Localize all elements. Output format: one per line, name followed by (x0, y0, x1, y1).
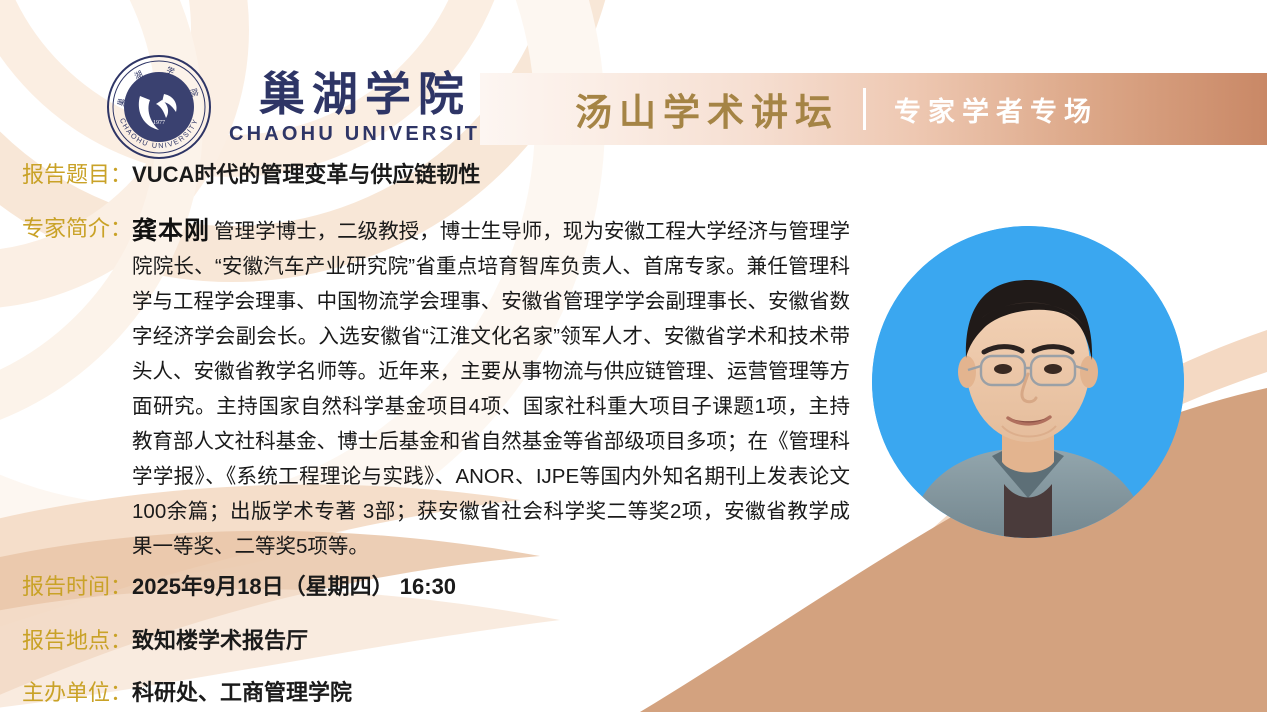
expert-name: 龚本刚 (132, 214, 210, 249)
report-time-label: 报告时间： (22, 572, 132, 602)
report-host-value: 科研处、工商管理学院 (132, 678, 352, 708)
report-place-row: 报告地点： 致知楼学术报告厅 (22, 626, 308, 656)
poster-canvas: 1977 CHAOHU UNIVERSITY 巢 湖 学 院 巢湖学院 CHAO… (0, 0, 1267, 712)
banner-divider (863, 88, 866, 130)
forum-subtitle: 专家学者专场 (894, 90, 1098, 129)
report-place-value: 致知楼学术报告厅 (132, 626, 308, 656)
expert-bio-block: 龚本刚 管理学博士，二级教授，博士生导师，现为安徽工程大学经济与管理学院院长、“… (132, 214, 850, 564)
report-host-row: 主办单位： 科研处、工商管理学院 (22, 678, 352, 708)
forum-title: 汤山学术讲坛 (575, 82, 839, 136)
university-name-cn: 巢湖学院 (252, 68, 471, 120)
report-place-label: 报告地点： (22, 626, 132, 656)
report-time-value: 2025年9月18日（星期四） 16:30 (132, 572, 456, 602)
report-title-row: 报告题目： VUCA时代的管理变革与供应链韧性 (22, 160, 480, 190)
report-title-value: VUCA时代的管理变革与供应链韧性 (132, 160, 480, 190)
forum-banner: 汤山学术讲坛 专家学者专场 (480, 73, 1267, 145)
university-name-block: 巢湖学院 CHAOHU UNIVERSITY (226, 68, 497, 146)
expert-bio-text: 管理学博士，二级教授，博士生导师，现为安徽工程大学经济与管理学院院长、“安徽汽车… (132, 214, 850, 564)
expert-bio-row: 专家简介： 龚本刚 管理学博士，二级教授，博士生导师，现为安徽工程大学经济与管理… (22, 214, 882, 564)
report-time-row: 报告时间： 2025年9月18日（星期四） 16:30 (22, 572, 456, 602)
report-host-label: 主办单位： (22, 678, 132, 708)
university-identity: 1977 CHAOHU UNIVERSITY 巢 湖 学 院 巢湖学院 CHAO… (106, 54, 497, 160)
university-name-en: CHAOHU UNIVERSITY (226, 122, 497, 146)
poster-header: 1977 CHAOHU UNIVERSITY 巢 湖 学 院 巢湖学院 CHAO… (0, 0, 1267, 150)
expert-bio-label: 专家简介： (22, 214, 132, 244)
university-seal-icon: 1977 CHAOHU UNIVERSITY 巢 湖 学 院 (106, 54, 212, 160)
speaker-portrait (872, 226, 1184, 538)
report-title-label: 报告题目： (22, 160, 132, 190)
svg-text:1977: 1977 (153, 120, 165, 126)
